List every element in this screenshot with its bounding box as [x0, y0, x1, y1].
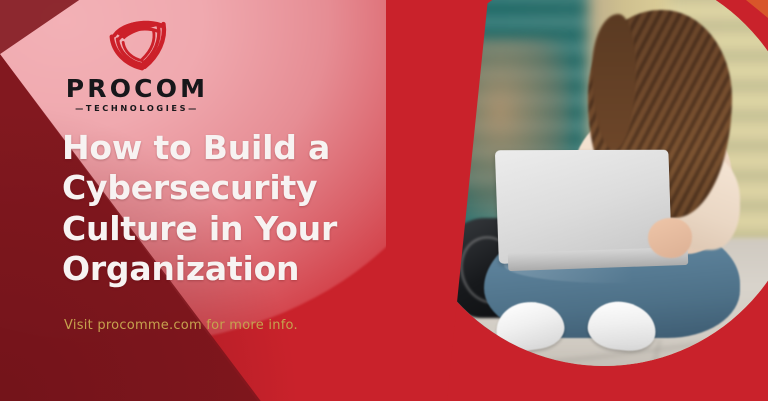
promo-banner: PROCOM —TECHNOLOGIES— How to Build a Cyb…: [0, 0, 768, 401]
cta-text[interactable]: Visit procomme.com for more info.: [64, 318, 298, 333]
procom-triangle-shield-logo-icon: [104, 14, 170, 72]
brand-tagline: —TECHNOLOGIES—: [62, 104, 212, 112]
brand-logo[interactable]: PROCOM —TECHNOLOGIES—: [62, 14, 212, 112]
page-title: How to Build a Cybersecurity Culture in …: [62, 128, 382, 289]
brand-wordmark: PROCOM: [62, 76, 212, 101]
banner-content: PROCOM —TECHNOLOGIES— How to Build a Cyb…: [0, 0, 768, 401]
